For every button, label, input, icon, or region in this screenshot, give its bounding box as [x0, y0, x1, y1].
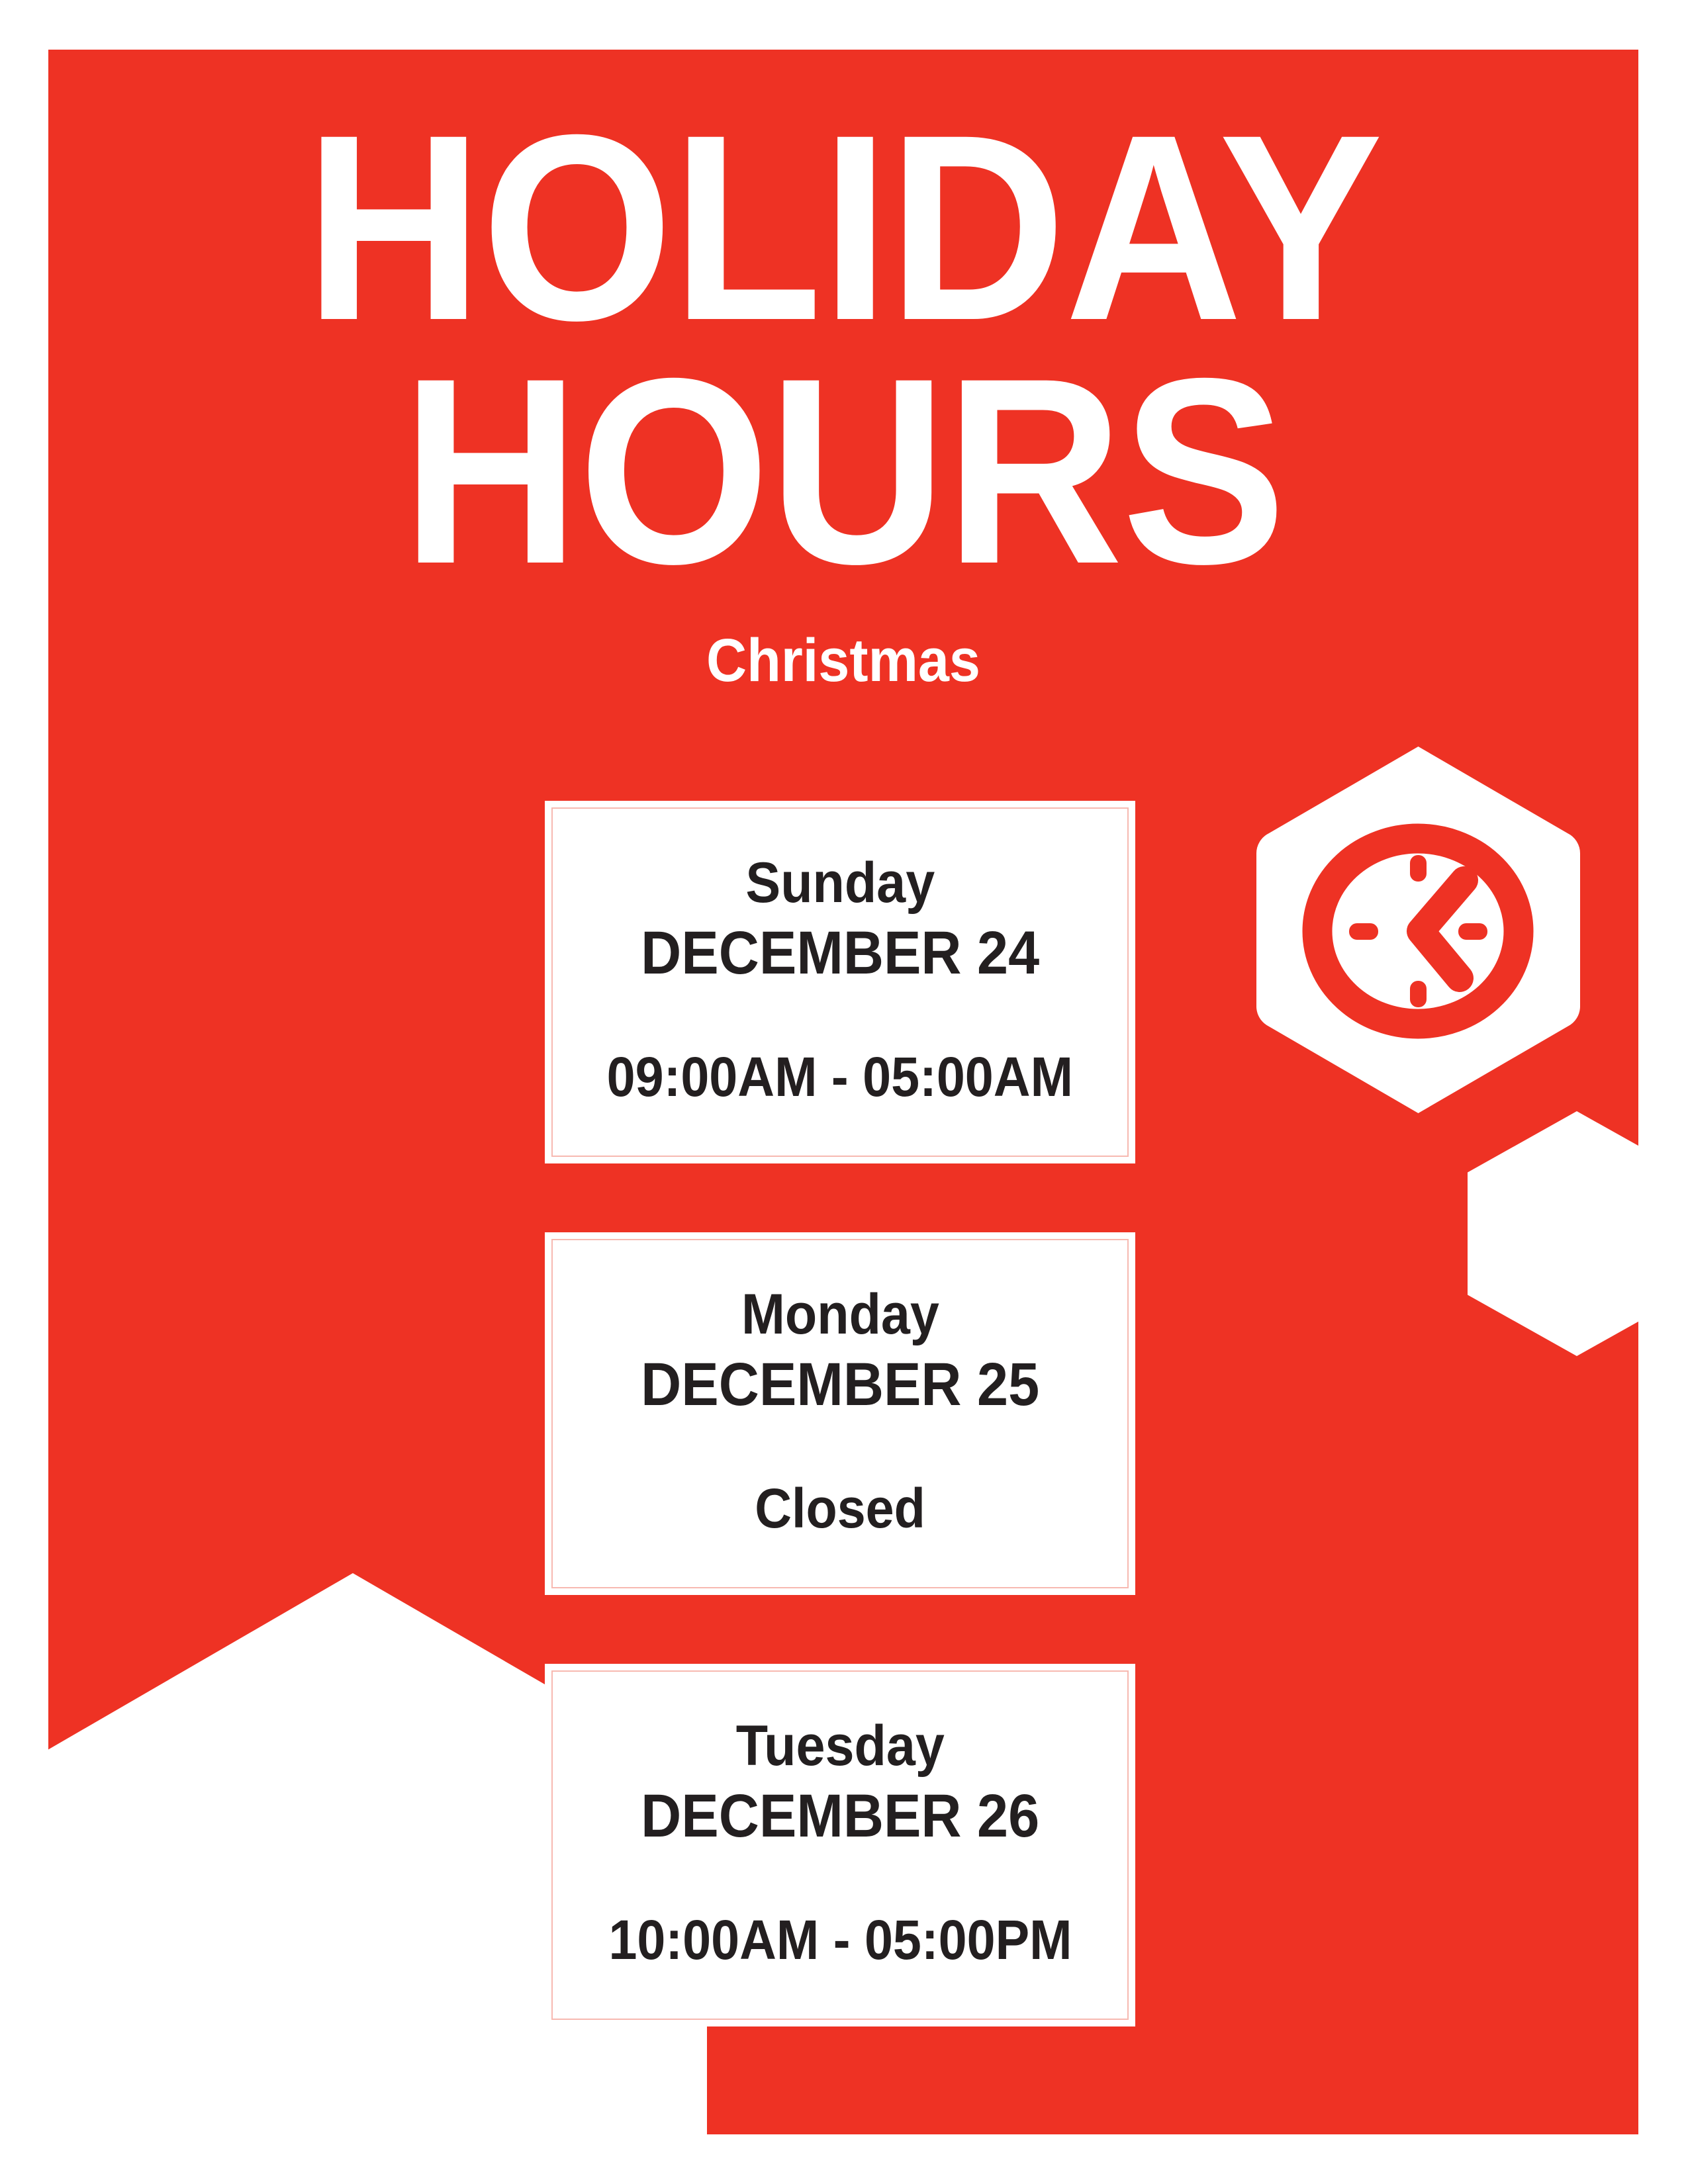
clock-hexagon-icon — [1251, 741, 1585, 1118]
schedule-card-monday: Monday DECEMBER 25 Closed — [545, 1232, 1135, 1595]
hexagon-accent-icon-small — [1468, 1111, 1638, 1356]
schedule-card-tuesday: Tuesday DECEMBER 26 10:00AM - 05:00PM — [545, 1664, 1135, 2026]
schedule-card-inner: Monday DECEMBER 25 Closed — [551, 1239, 1129, 1588]
holiday-hours-poster: HOLIDAY HOURS Christmas Sunday DECEMBER … — [0, 0, 1688, 2184]
schedule-day-hours: Closed — [755, 1479, 925, 1539]
schedule-day-date: DECEMBER 26 — [641, 1784, 1039, 1849]
schedule-day-date: DECEMBER 25 — [641, 1352, 1039, 1418]
schedule-card-inner: Sunday DECEMBER 24 09:00AM - 05:00AM — [551, 807, 1129, 1157]
schedule-day-date: DECEMBER 24 — [641, 921, 1039, 986]
schedule-day-name: Sunday — [745, 852, 935, 914]
schedule-list: Sunday DECEMBER 24 09:00AM - 05:00AM Mon… — [545, 801, 1135, 2026]
schedule-day-name: Monday — [741, 1284, 939, 1345]
schedule-day-hours: 10:00AM - 05:00PM — [608, 1910, 1072, 1970]
schedule-day-name: Tuesday — [735, 1715, 944, 1777]
schedule-card-sunday: Sunday DECEMBER 24 09:00AM - 05:00AM — [545, 801, 1135, 1163]
schedule-card-inner: Tuesday DECEMBER 26 10:00AM - 05:00PM — [551, 1670, 1129, 2020]
schedule-day-hours: 09:00AM - 05:00AM — [607, 1047, 1073, 1107]
